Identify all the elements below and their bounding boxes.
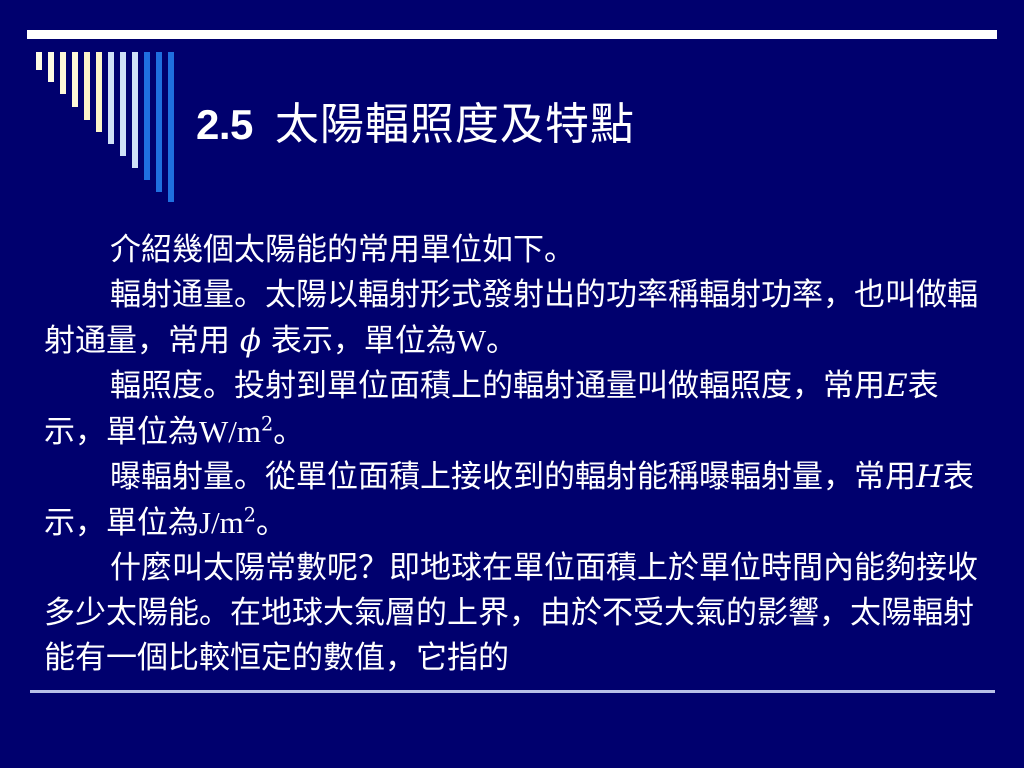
- math-symbol: H: [916, 459, 943, 495]
- slide-body: 介紹幾個太陽能的常用單位如下。輻射通量。太陽以輻射形式發射出的功率稱輻射功率，也…: [44, 228, 994, 681]
- deco-bar-9: [132, 52, 138, 168]
- text-run: 。: [256, 505, 287, 541]
- unit-text: J/m: [199, 505, 244, 540]
- superscript: 2: [244, 504, 256, 527]
- body-paragraph-irradiance: 輻照度。投射到單位面積上的輻射通量叫做輻照度，常用E表示，單位為W/m2。: [44, 364, 994, 455]
- text-run: 表示，單位為: [261, 323, 457, 359]
- deco-bar-8: [120, 52, 126, 156]
- deco-bar-4: [72, 52, 78, 107]
- body-paragraph-radiant-flux: 輻射通量。太陽以輻射形式發射出的功率稱輻射功率，也叫做輻射通量，常用 ϕ 表示，…: [44, 273, 994, 364]
- unit-text: W: [457, 323, 486, 358]
- superscript: 2: [261, 413, 273, 436]
- staircase-bars-decoration: [36, 52, 176, 202]
- text-run: 。: [273, 414, 304, 450]
- math-symbol: E: [885, 368, 908, 404]
- deco-bar-1: [36, 52, 42, 70]
- slide-title: 2.5太陽輻照度及特點: [196, 88, 976, 152]
- text-run: 什麼叫太陽常數呢？即地球在單位面積上於單位時間內能夠接收多少太陽能。在地球大氣層…: [44, 550, 978, 676]
- deco-bar-7: [108, 52, 114, 144]
- deco-bar-3: [60, 52, 66, 94]
- body-paragraph-solar-constant: 什麼叫太陽常數呢？即地球在單位面積上於單位時間內能夠接收多少太陽能。在地球大氣層…: [44, 546, 994, 681]
- title-text: 太陽輻照度及特點: [275, 99, 635, 150]
- text-run: 輻照度。投射到單位面積上的輻射通量叫做輻照度，常用: [110, 368, 885, 404]
- deco-bar-2: [48, 52, 54, 82]
- deco-bar-12: [168, 52, 174, 202]
- deco-bar-10: [144, 52, 150, 180]
- top-divider-rule: [27, 30, 997, 39]
- math-symbol: ϕ: [240, 323, 261, 359]
- unit-text: W/m: [199, 414, 261, 449]
- slide-canvas: 2.5太陽輻照度及特點 介紹幾個太陽能的常用單位如下。輻射通量。太陽以輻射形式發…: [0, 0, 1024, 768]
- deco-bar-5: [84, 52, 90, 120]
- text-run: 介紹幾個太陽能的常用單位如下。: [110, 232, 575, 268]
- deco-bar-11: [156, 52, 162, 192]
- bottom-divider-rule: [30, 690, 995, 693]
- text-run: 曝輻射量。從單位面積上接收到的輻射能稱曝輻射量，常用: [110, 459, 916, 495]
- body-paragraph-intro: 介紹幾個太陽能的常用單位如下。: [44, 228, 994, 273]
- deco-bar-6: [96, 52, 102, 132]
- title-number: 2.5: [196, 101, 253, 148]
- body-paragraph-radiant-exposure: 曝輻射量。從單位面積上接收到的輻射能稱曝輻射量，常用H表示，單位為J/m2。: [44, 455, 994, 546]
- text-run: 。: [486, 323, 517, 359]
